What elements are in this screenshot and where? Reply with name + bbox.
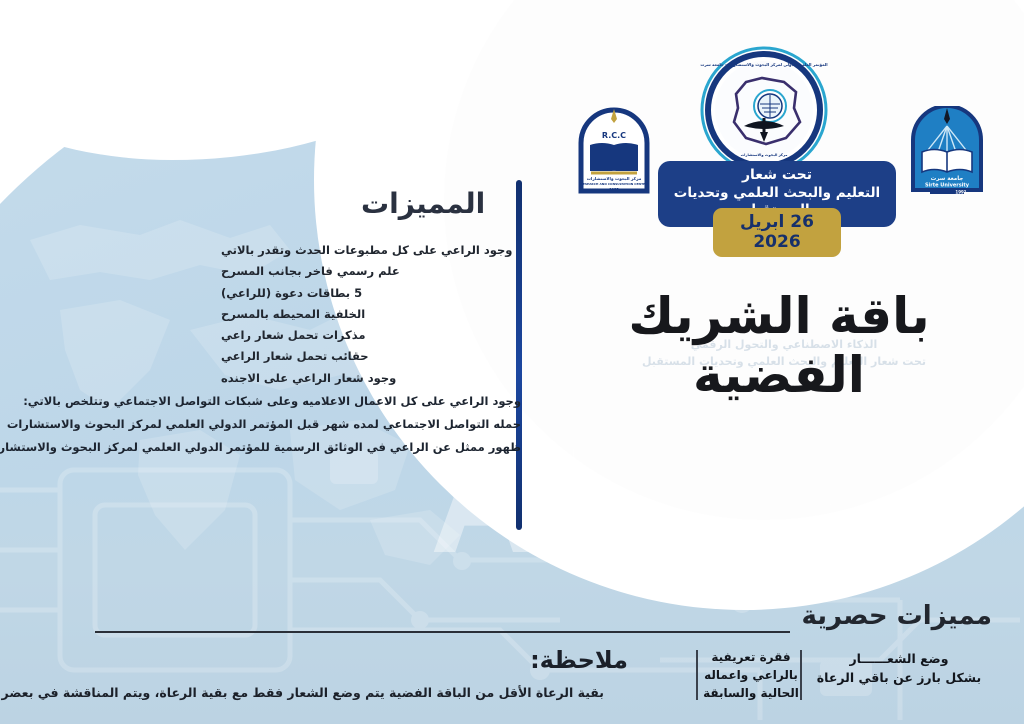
media-paragraph-line: حمله التواصل الاجتماعي لمده شهر قبل المؤ… <box>51 413 521 436</box>
exclusive-column-divider-2 <box>696 650 698 700</box>
exclusive-col2-line-1: فقرة تعريفية <box>703 648 799 666</box>
features-list: وجود الراعي على كل مطبوعات الحدث وتقدر ب… <box>221 240 521 389</box>
exclusive-col2-line-2: بالراعي واعماله <box>703 666 799 684</box>
feature-item: 5 بطاقات دعوة (للراعي) <box>221 283 521 304</box>
exclusive-column-intro-segment: فقرة تعريفية بالراعي واعماله الحالية وال… <box>703 648 799 702</box>
conference-date-badge: 26 ابريل 2026 <box>713 208 841 257</box>
features-heading: المميزات <box>361 190 521 218</box>
feature-item: مذكرات تحمل شعار راعي <box>221 325 521 346</box>
exclusive-heading: مميزات حصرية <box>802 603 992 629</box>
note-label: ملاحظة: <box>530 648 628 672</box>
rcc-caption-en: RESEARCH AND CONSULTATION CENTER <box>581 182 649 186</box>
feature-item: الخلفية المحيطه بالمسرح <box>221 304 521 325</box>
rcc-logo: R.C.C مركز البحوث والاستشارات RESEARCH A… <box>575 107 653 195</box>
feature-item: وجود شعار الراعي على الاجنده <box>221 368 521 389</box>
exclusive-col2-line-3: الحالية والسابقة <box>703 684 799 702</box>
media-paragraph-line: ظهور ممثل عن الراعي في الوثائق الرسمية ل… <box>51 436 521 459</box>
exclusive-col1-line-1: وضع الشعــــــار <box>804 650 994 669</box>
rcc-abbr-label: R.C.C <box>602 131 626 140</box>
rcc-caption-ar: مركز البحوث والاستشارات <box>587 176 642 181</box>
sirte-caption-en: Sirte University <box>925 183 970 189</box>
sirte-year-label: 1991 <box>955 189 966 194</box>
rcc-year-label: 1985 <box>609 188 619 192</box>
media-paragraph-line: وجود الراعي على كل الاعمال الاعلاميه وعل… <box>51 390 521 413</box>
note-text: بقية الرعاة الأقل من الباقة الفضية يتم و… <box>44 684 604 702</box>
slogan-prefix: تحت شعار <box>666 167 888 185</box>
page-title-line-1: باقة الشريك <box>628 287 929 345</box>
media-paragraph: وجود الراعي على كل الاعمال الاعلاميه وعل… <box>51 390 521 459</box>
poster-canvas: AI المؤتمر العلمي الدولي لمركز البحوث وا… <box>0 0 1024 724</box>
feature-item: حقائب تحمل شعار الراعي <box>221 346 521 367</box>
conference-logo-caption: المؤتمر العلمي الدولي لمركز البحوث والاس… <box>700 62 828 67</box>
page-title-line-2: الفضية <box>589 349 969 402</box>
exclusive-column-divider-1 <box>800 650 802 700</box>
exclusive-column-logo-placement: وضع الشعــــــار بشكل بارز عن باقي الرعا… <box>804 650 994 688</box>
sirte-university-logo: جامعة سرت Sirte University 1991 <box>906 106 988 196</box>
sirte-caption-ar: جامعة سرت <box>931 176 964 182</box>
feature-item: علم رسمي فاخر بجانب المسرح <box>221 261 521 282</box>
conference-main-logo: المؤتمر العلمي الدولي لمركز البحوث والاس… <box>700 46 828 174</box>
exclusive-divider-line <box>95 631 790 633</box>
page-title: باقة الشريك الفضية <box>589 290 969 401</box>
conference-logo-subcaption: مركز البحوث والاستشارات <box>741 153 788 157</box>
feature-item: وجود الراعي على كل مطبوعات الحدث وتقدر ب… <box>221 240 521 261</box>
exclusive-col1-line-2: بشكل بارز عن باقي الرعاة <box>804 669 994 688</box>
